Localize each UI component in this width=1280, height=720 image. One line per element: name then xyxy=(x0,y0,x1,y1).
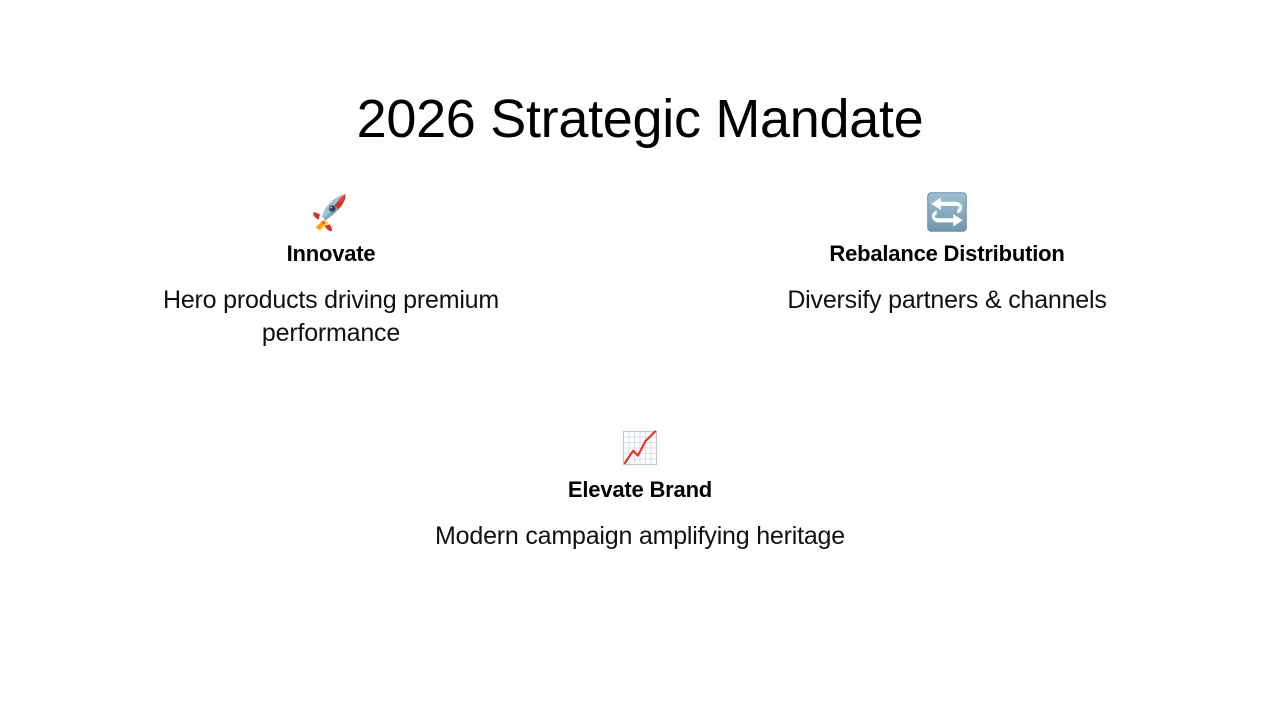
pillar-card-elevate-brand: Elevate Brand Modern campaign amplifying… xyxy=(430,426,850,553)
pillar-card-innovate: Innovate Hero products driving premium p… xyxy=(121,190,541,351)
page-title: 2026 Strategic Mandate xyxy=(0,88,1280,150)
pillar-title: Rebalance Distribution xyxy=(737,240,1157,268)
pillar-description: Hero products driving premium performanc… xyxy=(121,284,541,351)
rocket-icon xyxy=(309,190,353,234)
repeat-arrows-icon xyxy=(925,190,969,234)
pillar-description: Diversify partners & channels xyxy=(737,284,1157,318)
slide-canvas: 2026 Strategic Mandate xyxy=(0,0,1280,720)
pillar-title: Innovate xyxy=(121,240,541,268)
pillar-title: Elevate Brand xyxy=(430,476,850,504)
chart-increasing-icon xyxy=(618,426,662,470)
pillar-card-rebalance-distribution: Rebalance Distribution Diversify partner… xyxy=(737,190,1157,317)
pillar-description: Modern campaign amplifying heritage xyxy=(430,520,850,554)
